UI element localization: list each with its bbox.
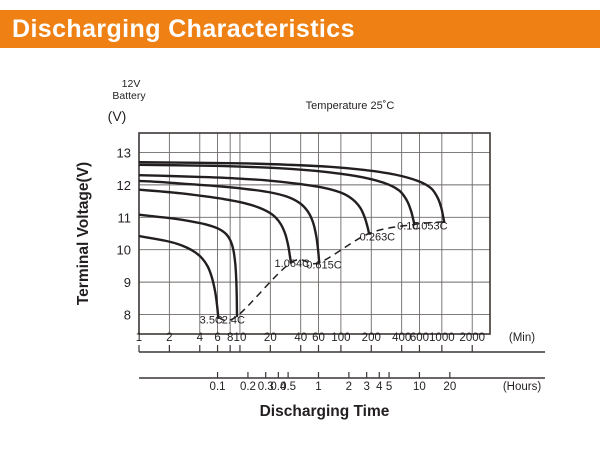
y-tick-label: 10 — [117, 243, 131, 258]
curve-0-615C — [139, 181, 319, 263]
x-tick-label-minutes: 200 — [362, 332, 381, 344]
y-tick-label: 11 — [118, 210, 132, 225]
curve-label-1-064C: 1.064C — [275, 258, 311, 270]
page-title: Discharging Characteristics — [12, 15, 355, 44]
x-tick-label-hours: 2 — [346, 381, 352, 393]
chart-svg: 1312111098(V)12VBatteryTemperature 25˚CT… — [0, 48, 600, 451]
curve-label-3-5C: 3.5C — [200, 315, 223, 327]
x-tick-label-hours: 0.5 — [280, 381, 296, 393]
x-tick-label-minutes: 4 — [197, 332, 204, 344]
x-unit-minutes: (Min) — [509, 332, 535, 344]
x-tick-label-minutes: 8 — [227, 332, 233, 344]
curve-label-0-263C: 0.263C — [360, 232, 396, 244]
x-tick-label-minutes: 100 — [331, 332, 350, 344]
battery-sublabel: Battery — [112, 90, 146, 102]
x-tick-label-hours: 4 — [376, 381, 383, 393]
y-tick-label: 13 — [117, 145, 131, 160]
y-tick-label: 8 — [124, 308, 131, 323]
x-tick-label-minutes: 400 — [392, 332, 411, 344]
x-tick-label-minutes: 10 — [234, 332, 247, 344]
x-tick-label-hours: 0.1 — [210, 381, 226, 393]
curve-label-0-053C: 0.053C — [412, 221, 448, 233]
x-tick-label-hours: 5 — [386, 381, 392, 393]
y-axis-title: Terminal Voltage(V) — [75, 162, 92, 305]
x-tick-label-hours: 3 — [363, 381, 369, 393]
temperature-label: Temperature 25˚C — [306, 100, 395, 112]
curve-2-4C — [139, 215, 237, 316]
discharge-chart: 1312111098(V)12VBatteryTemperature 25˚CT… — [0, 48, 600, 451]
x-tick-label-minutes: 1 — [136, 332, 142, 344]
battery-label: 12V — [122, 78, 141, 90]
x-tick-label-minutes: 1000 — [429, 332, 455, 344]
x-tick-label-hours: 10 — [413, 381, 426, 393]
x-axis-title: Discharging Time — [260, 403, 390, 420]
x-tick-label-minutes: 40 — [294, 332, 307, 344]
x-tick-label-minutes: 6 — [214, 332, 220, 344]
y-tick-label: 12 — [117, 178, 131, 193]
y-tick-label: 9 — [124, 275, 131, 290]
x-tick-label-minutes: 20 — [264, 332, 277, 344]
x-tick-label-hours: 20 — [443, 381, 456, 393]
x-tick-label-minutes: 2000 — [459, 332, 485, 344]
x-tick-label-hours: 0.2 — [240, 381, 256, 393]
x-tick-label-hours: 1 — [315, 381, 321, 393]
x-unit-hours: (Hours) — [503, 381, 542, 393]
curve-label-2-4C: 2.4C — [222, 315, 245, 327]
curve-0-053C — [139, 162, 444, 222]
curve-label-0-615C: 0.615C — [306, 260, 342, 272]
header-banner: Discharging Characteristics — [0, 10, 600, 48]
y-axis-unit: (V) — [108, 108, 127, 124]
x-tick-label-minutes: 60 — [312, 332, 325, 344]
x-tick-label-minutes: 2 — [166, 332, 172, 344]
x-tick-label-minutes: 600 — [410, 332, 429, 344]
curve-3-5C — [139, 236, 218, 318]
